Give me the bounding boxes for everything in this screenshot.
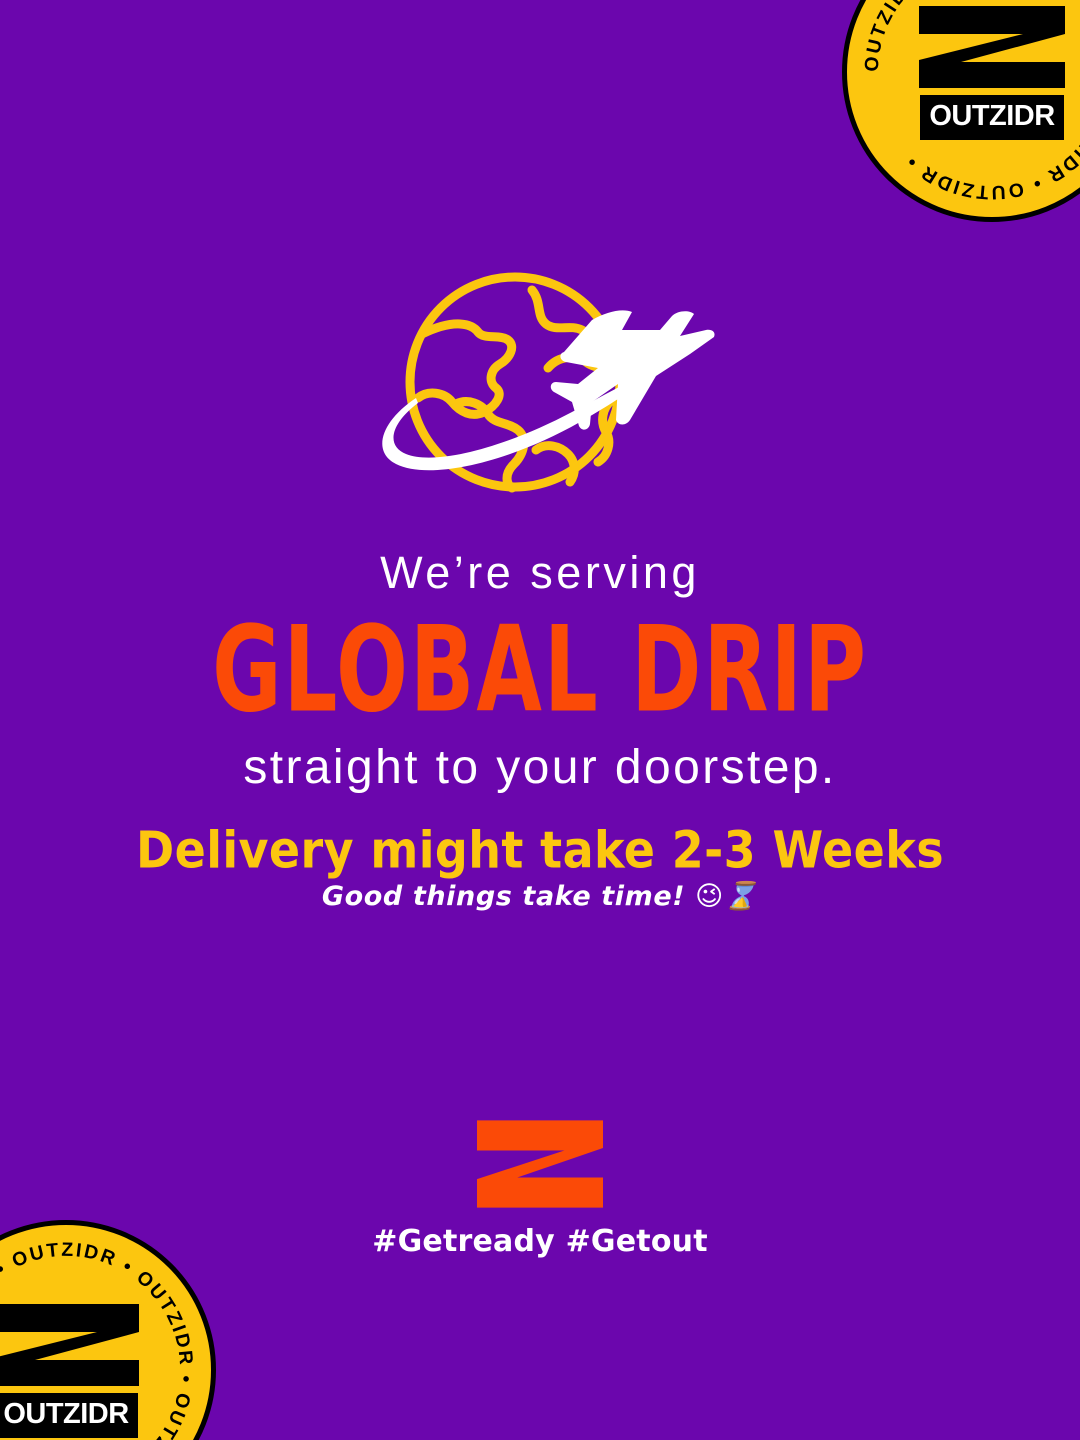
promo-poster: OUTZIDR • OUTZIDR • OUTZIDR • OUTZIDR • … [0, 0, 1080, 1440]
z-logo-icon [0, 1302, 141, 1388]
good-things-text: Good things take time! 😉⌛ [0, 880, 1080, 912]
brand-stamp-top-right: OUTZIDR • OUTZIDR • OUTZIDR • OUTZIDR • … [842, 0, 1080, 222]
stamp-core-bl: OUTZIDR [0, 1302, 148, 1438]
copy-block: We’re serving GLOBAL DRIP straight to yo… [0, 548, 1080, 794]
z-logo-icon [917, 4, 1067, 90]
headline-text: GLOBAL DRIP [11, 610, 1069, 729]
eyebrow-text: We’re serving [0, 548, 1080, 598]
subline-text: straight to your doorstep. [0, 742, 1080, 795]
hero-illustration [360, 272, 720, 512]
stamp-wordmark-bl: OUTZIDR [0, 1393, 138, 1438]
z-logo-icon [477, 1120, 603, 1208]
brand-stamp-bottom-left: OUTZIDR • OUTZIDR • OUTZIDR • OUTZIDR • … [0, 1220, 216, 1440]
stamp-wordmark-tr: OUTZIDR [920, 95, 1063, 140]
stamp-core-tr: OUTZIDR [910, 4, 1074, 140]
delivery-estimate-text: Delivery might take 2-3 Weeks [0, 820, 1080, 879]
hashtags-text: #Getready #Getout [372, 1224, 707, 1259]
